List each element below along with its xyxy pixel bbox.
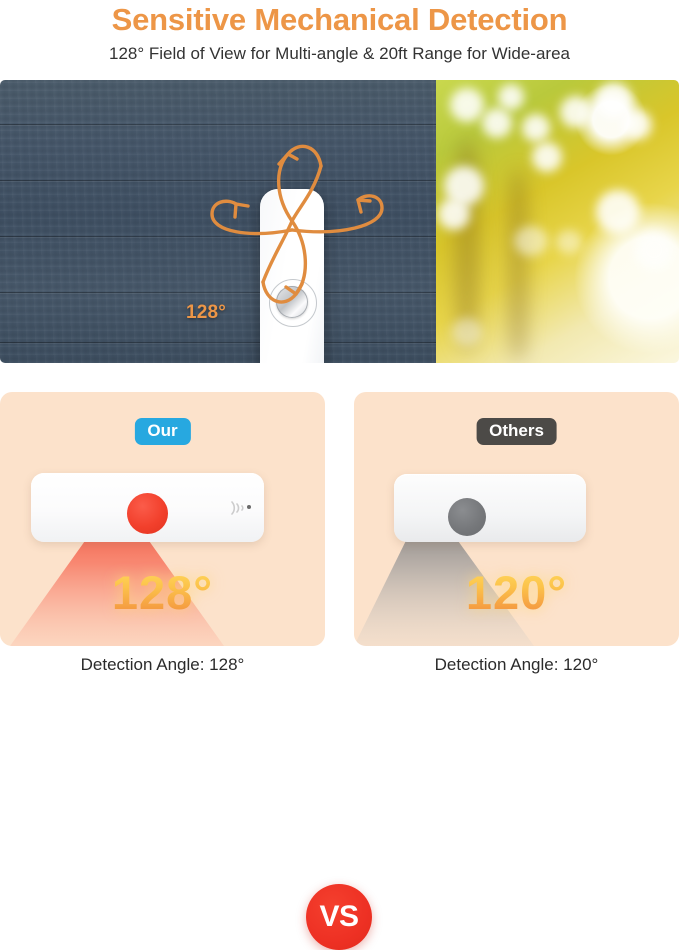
signal-dot-icon [247, 505, 251, 509]
badge-others: Others [476, 418, 557, 445]
bokeh-circle [452, 318, 482, 346]
caption-our: Detection Angle: 128° [0, 652, 325, 678]
bokeh-circle [622, 110, 652, 140]
page-subtitle: 128° Field of View for Multi-angle & 20f… [0, 39, 679, 65]
plank-seam [0, 180, 436, 181]
sensor-lens-icon [448, 498, 486, 536]
captions-row: Detection Angle: 128° Detection Angle: 1… [0, 652, 679, 686]
plank-seam [0, 342, 436, 343]
angle-value-others: 120° [354, 567, 679, 619]
plank-seam [0, 124, 436, 125]
plank-seam [0, 236, 436, 237]
comparison-section: Our 128° [0, 392, 679, 646]
badge-our: Our [134, 418, 190, 445]
bokeh-circle [498, 84, 524, 110]
comparison-card-our: Our 128° [0, 392, 325, 646]
header: Sensitive Mechanical Detection 128° Fiel… [0, 0, 679, 80]
vs-badge: VS [306, 884, 372, 950]
bokeh-circle [522, 114, 550, 142]
caption-others: Detection Angle: 120° [354, 652, 679, 678]
sensor-lens-icon [127, 493, 168, 534]
bokeh-circle [482, 108, 512, 138]
bokeh-circle [532, 142, 562, 172]
plank-seam [0, 292, 436, 293]
lens-icon [276, 286, 308, 318]
bokeh-circle [438, 198, 470, 230]
page-title: Sensitive Mechanical Detection [0, 0, 679, 39]
sensor-device-our [31, 473, 264, 542]
bokeh-circle [634, 230, 674, 270]
bokeh-circle [450, 88, 484, 122]
hero-angle-label: 128° [186, 302, 226, 324]
bokeh-circle [556, 230, 582, 254]
comparison-card-others: Others 120° [354, 392, 679, 646]
hero-photo: 128° [0, 80, 679, 363]
product-feature-page: Sensitive Mechanical Detection 128° Fiel… [0, 0, 679, 686]
motion-sensor-device [260, 189, 324, 363]
bokeh-circle [560, 96, 592, 128]
sensor-device-others [394, 474, 586, 542]
bokeh-circle [514, 226, 548, 256]
angle-value-our: 128° [0, 567, 325, 619]
tree-trunk-blur [508, 170, 528, 360]
blurred-foliage-background [436, 80, 679, 363]
bokeh-circle [596, 190, 640, 234]
